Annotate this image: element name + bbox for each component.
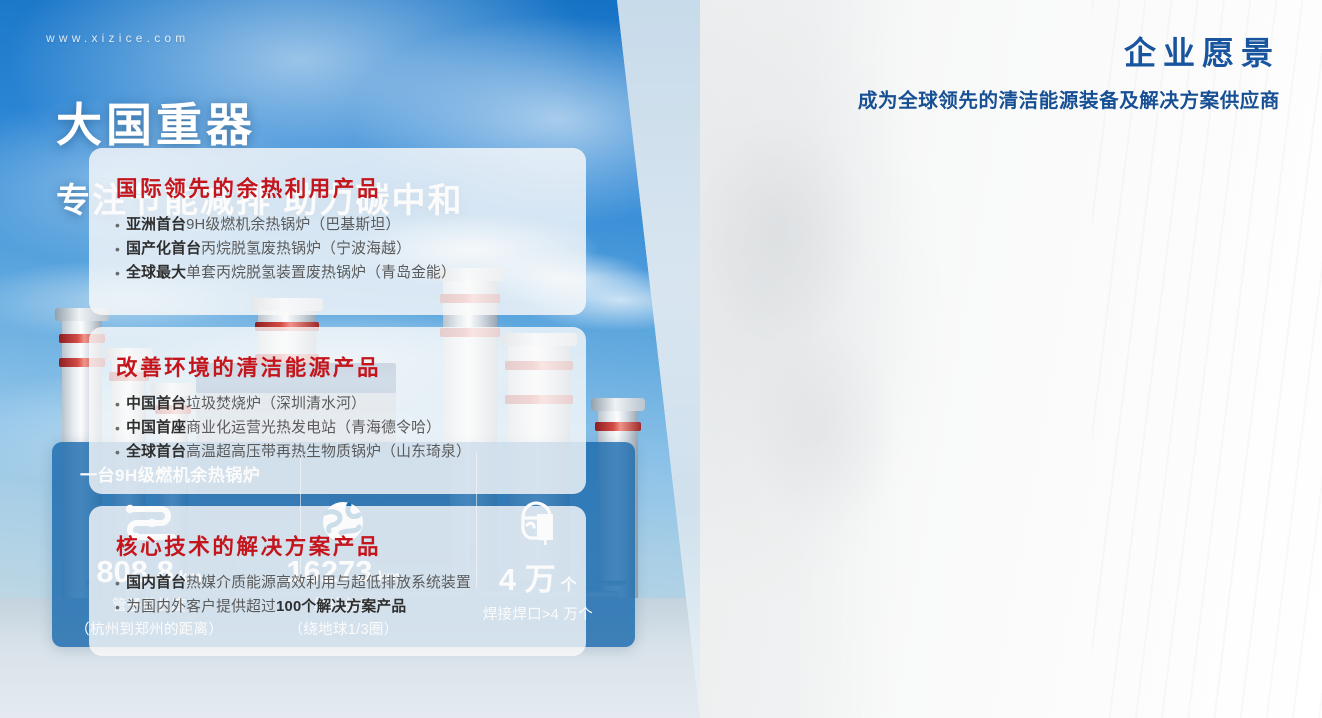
card-title: 核心技术的解决方案产品 [116, 530, 381, 561]
bullet-dot-icon: • [115, 572, 120, 595]
card-title: 国际领先的余热利用产品 [116, 172, 381, 203]
bullet-strong: 中国首台 [126, 396, 186, 412]
site-watermark: www.xizice.com [46, 31, 189, 45]
card-bullet-list: • 中国首台垃圾焚烧炉（深圳清水河） • 中国首座商业化运营光热发电站（青海德令… [115, 393, 570, 465]
bullet-dot-icon: • [115, 393, 120, 416]
bullet-text: 9H级燃机余热锅炉（巴基斯坦） [186, 217, 400, 233]
headline-primary: 大国重器 [56, 100, 616, 151]
vision-card-1: 国际领先的余热利用产品 • 亚洲首台9H级燃机余热锅炉（巴基斯坦） • 国产化首… [89, 148, 586, 315]
list-item: • 国内首台热媒介质能源高效利用与超低排放系统装置 [115, 572, 570, 596]
bullet-strong: 全球最大 [126, 265, 186, 281]
list-item: • 中国首座商业化运营光热发电站（青海德令哈） [115, 417, 570, 441]
bullet-strong-tail: 100个解决方案产品 [276, 599, 406, 615]
bullet-text: 为国内外客户提供超过 [126, 599, 276, 615]
list-item: • 全球首台高温超高压带再热生物质锅炉（山东琦泉） [115, 441, 570, 465]
bullet-strong: 全球首台 [126, 444, 186, 460]
bullet-dot-icon: • [115, 238, 120, 261]
list-item: • 亚洲首台9H级燃机余热锅炉（巴基斯坦） [115, 214, 570, 238]
page-subtitle: 成为全球领先的清洁能源装备及解决方案供应商 [858, 84, 1280, 113]
bullet-dot-icon: • [115, 417, 120, 440]
bullet-strong: 国内首台 [126, 575, 186, 591]
bullet-strong: 国产化首台 [126, 241, 201, 257]
vision-card-2: 改善环境的清洁能源产品 • 中国首台垃圾焚烧炉（深圳清水河） • 中国首座商业化… [89, 327, 586, 494]
bullet-text: 垃圾焚烧炉（深圳清水河） [186, 396, 366, 412]
bullet-text: 丙烷脱氢废热锅炉（宁波海越） [201, 241, 411, 257]
card-bullet-list: • 国内首台热媒介质能源高效利用与超低排放系统装置 • 为国内外客户提供超过10… [115, 572, 570, 620]
bullet-strong: 中国首座 [126, 420, 186, 436]
bullet-text: 热媒介质能源高效利用与超低排放系统装置 [186, 575, 471, 591]
page-title: 企业愿景 [1124, 28, 1280, 74]
bullet-dot-icon: • [115, 596, 120, 619]
list-item: • 中国首台垃圾焚烧炉（深圳清水河） [115, 393, 570, 417]
list-item: • 全球最大单套丙烷脱氢装置废热锅炉（青岛金能） [115, 262, 570, 286]
card-bullet-list: • 亚洲首台9H级燃机余热锅炉（巴基斯坦） • 国产化首台丙烷脱氢废热锅炉（宁波… [115, 214, 570, 286]
bullet-dot-icon: • [115, 441, 120, 464]
card-title: 改善环境的清洁能源产品 [116, 351, 381, 382]
vision-card-3: 核心技术的解决方案产品 • 国内首台热媒介质能源高效利用与超低排放系统装置 • … [89, 506, 586, 656]
bullet-dot-icon: • [115, 262, 120, 285]
bullet-dot-icon: • [115, 214, 120, 237]
list-item: • 为国内外客户提供超过100个解决方案产品 [115, 596, 570, 620]
list-item: • 国产化首台丙烷脱氢废热锅炉（宁波海越） [115, 238, 570, 262]
slide-root: www.xizice.com 大国重器 专注节能减排 助力碳中和 一台9H级燃机… [0, 0, 1322, 718]
bullet-text: 高温超高压带再热生物质锅炉（山东琦泉） [186, 444, 471, 460]
bullet-text: 商业化运营光热发电站（青海德令哈） [186, 420, 441, 436]
bullet-strong: 亚洲首台 [126, 217, 186, 233]
bullet-text: 单套丙烷脱氢装置废热锅炉（青岛金能） [186, 265, 456, 281]
